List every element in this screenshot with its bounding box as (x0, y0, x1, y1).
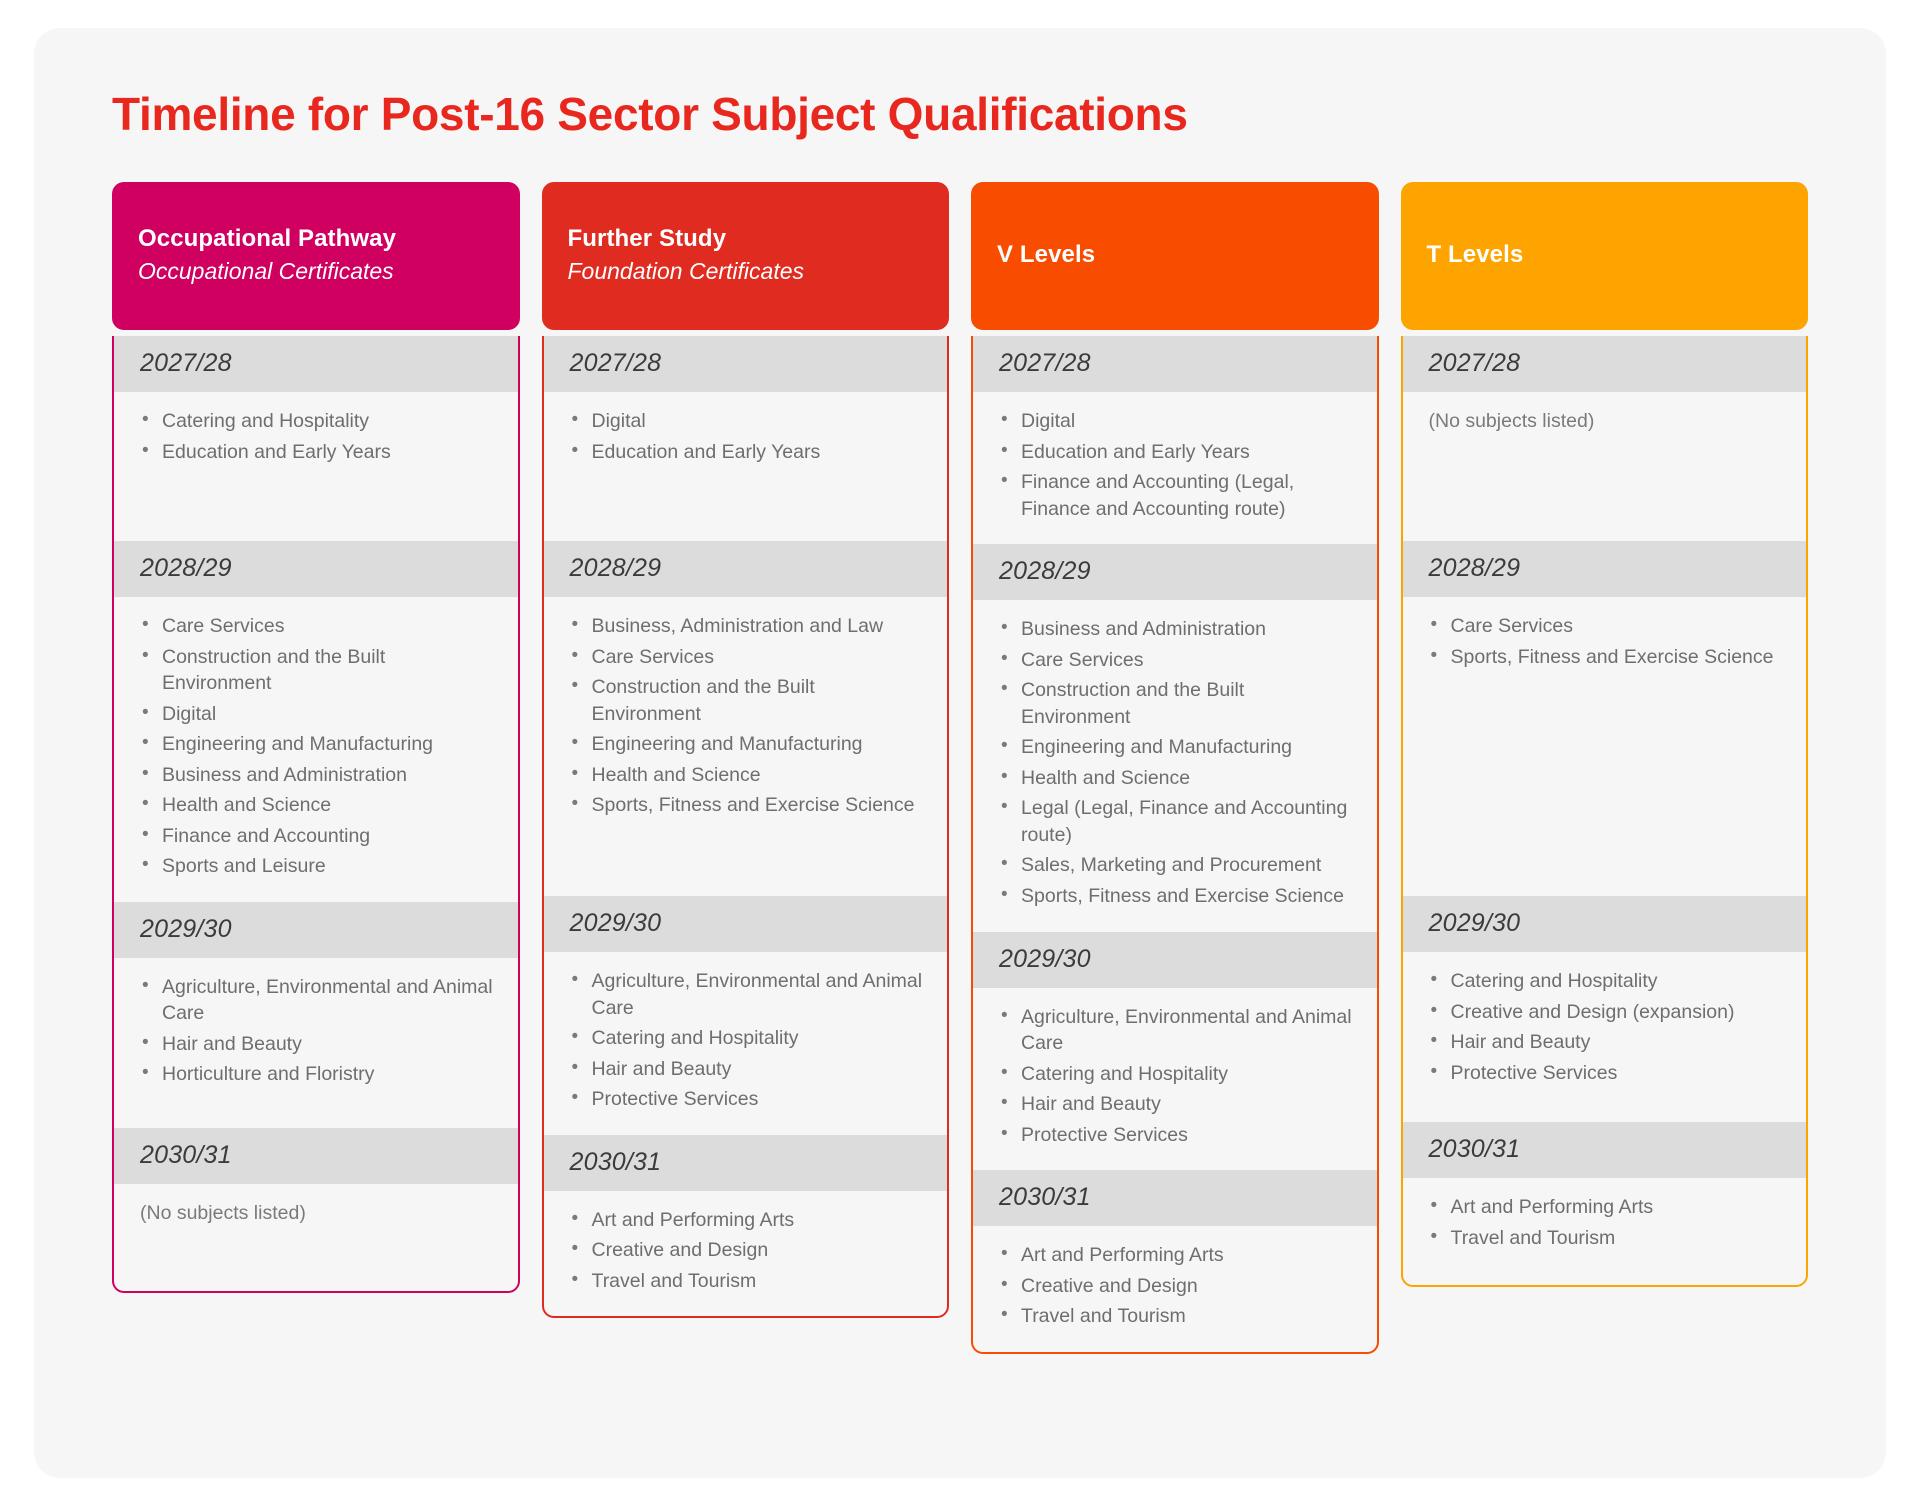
subject-area: Agriculture, Environmental and Animal Ca… (544, 952, 948, 1135)
year-block: 2028/29Business and AdministrationCare S… (973, 544, 1377, 931)
timeline-column-v-levels: V Levels2027/28DigitalEducation and Earl… (971, 182, 1379, 1353)
subject-item: Art and Performing Arts (1429, 1194, 1785, 1221)
column-header-further-study[interactable]: Further StudyFoundation Certificates (542, 182, 950, 330)
subject-area: (No subjects listed) (114, 1184, 518, 1245)
subject-item: Digital (140, 701, 496, 728)
subject-item: Legal (Legal, Finance and Accounting rou… (999, 795, 1355, 848)
year-label: 2030/31 (973, 1170, 1377, 1226)
year-label: 2030/31 (114, 1128, 518, 1184)
subject-item: Sales, Marketing and Procurement (999, 852, 1355, 879)
subject-item: Health and Science (140, 792, 496, 819)
column-title: Further Study (568, 224, 924, 254)
year-block: 2027/28DigitalEducation and Early Years (544, 336, 948, 541)
subject-item: Agriculture, Environmental and Animal Ca… (570, 968, 926, 1021)
subject-list: Care ServicesConstruction and the Built … (140, 613, 496, 880)
column-body-occupational-pathway: 2027/28Catering and HospitalityEducation… (112, 336, 520, 1293)
subject-list: Agriculture, Environmental and Animal Ca… (999, 1004, 1355, 1149)
year-label: 2030/31 (1403, 1122, 1807, 1178)
subject-item: Construction and the Built Environment (140, 644, 496, 697)
subject-area: Art and Performing ArtsCreative and Desi… (973, 1226, 1377, 1352)
subject-item: Travel and Tourism (999, 1303, 1355, 1330)
subject-item: Creative and Design (999, 1273, 1355, 1300)
timeline-column-further-study: Further StudyFoundation Certificates2027… (542, 182, 950, 1318)
year-block: 2029/30Agriculture, Environmental and An… (114, 902, 518, 1128)
subject-area: DigitalEducation and Early Years (544, 392, 948, 487)
year-block: 2028/29Care ServicesSports, Fitness and … (1403, 541, 1807, 896)
subject-area: Catering and HospitalityCreative and Des… (1403, 952, 1807, 1108)
subject-item: Protective Services (570, 1086, 926, 1113)
subject-item: Engineering and Manufacturing (140, 731, 496, 758)
subject-list: Agriculture, Environmental and Animal Ca… (570, 968, 926, 1113)
subject-item: Agriculture, Environmental and Animal Ca… (140, 974, 496, 1027)
subject-list: DigitalEducation and Early Years (570, 408, 926, 465)
subject-item: Engineering and Manufacturing (570, 731, 926, 758)
subject-area: (No subjects listed) (1403, 392, 1807, 453)
year-label: 2028/29 (544, 541, 948, 597)
subject-area: Agriculture, Environmental and Animal Ca… (114, 958, 518, 1110)
column-subtitle: Occupational Certificates (138, 257, 494, 287)
year-block: 2030/31Art and Performing ArtsCreative a… (973, 1170, 1377, 1352)
subject-item: Protective Services (999, 1122, 1355, 1149)
year-label: 2029/30 (973, 932, 1377, 988)
empty-subjects-note: (No subjects listed) (1429, 408, 1785, 435)
subject-item: Horticulture and Floristry (140, 1061, 496, 1088)
year-block: 2030/31(No subjects listed) (114, 1128, 518, 1291)
subject-item: Care Services (1429, 613, 1785, 640)
year-block: 2029/30Catering and HospitalityCreative … (1403, 896, 1807, 1122)
subject-item: Agriculture, Environmental and Animal Ca… (999, 1004, 1355, 1057)
subject-item: Finance and Accounting (140, 823, 496, 850)
year-label: 2030/31 (544, 1135, 948, 1191)
column-header-t-levels[interactable]: T Levels (1401, 182, 1809, 330)
subject-item: Sports and Leisure (140, 853, 496, 880)
subject-item: Catering and Hospitality (140, 408, 496, 435)
year-block: 2030/31Art and Performing ArtsCreative a… (544, 1135, 948, 1317)
subject-list: Art and Performing ArtsCreative and Desi… (999, 1242, 1355, 1330)
subject-item: Hair and Beauty (570, 1056, 926, 1083)
column-subtitle: Foundation Certificates (568, 257, 924, 287)
subject-item: Engineering and Manufacturing (999, 734, 1355, 761)
subject-area: Art and Performing ArtsTravel and Touris… (1403, 1178, 1807, 1273)
year-block: 2027/28(No subjects listed) (1403, 336, 1807, 541)
subject-list: Catering and HospitalityCreative and Des… (1429, 968, 1785, 1086)
subject-item: Finance and Accounting (Legal, Finance a… (999, 469, 1355, 522)
subject-item: Care Services (999, 647, 1355, 674)
subject-item: Health and Science (999, 765, 1355, 792)
year-label: 2028/29 (1403, 541, 1807, 597)
year-label: 2027/28 (973, 336, 1377, 392)
subject-item: Construction and the Built Environment (570, 674, 926, 727)
subject-item: Construction and the Built Environment (999, 677, 1355, 730)
subject-area: Business, Administration and LawCare Ser… (544, 597, 948, 841)
subject-item: Travel and Tourism (1429, 1225, 1785, 1252)
column-body-t-levels: 2027/28(No subjects listed)2028/29Care S… (1401, 336, 1809, 1287)
year-block: 2027/28DigitalEducation and Early YearsF… (973, 336, 1377, 544)
subject-item: Education and Early Years (570, 439, 926, 466)
year-block: 2027/28Catering and HospitalityEducation… (114, 336, 518, 541)
subject-list: DigitalEducation and Early YearsFinance … (999, 408, 1355, 522)
subject-area: Care ServicesSports, Fitness and Exercis… (1403, 597, 1807, 692)
subject-item: Art and Performing Arts (999, 1242, 1355, 1269)
column-header-occupational-pathway[interactable]: Occupational PathwayOccupational Certifi… (112, 182, 520, 330)
subject-item: Care Services (570, 644, 926, 671)
subject-area: Art and Performing ArtsCreative and Desi… (544, 1191, 948, 1317)
subject-area: Catering and HospitalityEducation and Ea… (114, 392, 518, 487)
subject-area: Business and AdministrationCare Services… (973, 600, 1377, 931)
year-block: 2028/29Business, Administration and LawC… (544, 541, 948, 896)
column-title: V Levels (997, 240, 1353, 270)
subject-item: Travel and Tourism (570, 1268, 926, 1295)
subject-item: Business, Administration and Law (570, 613, 926, 640)
timeline-columns: Occupational PathwayOccupational Certifi… (112, 182, 1808, 1353)
subject-list: Business and AdministrationCare Services… (999, 616, 1355, 909)
timeline-column-occupational-pathway: Occupational PathwayOccupational Certifi… (112, 182, 520, 1293)
infographic-board: Timeline for Post-16 Sector Subject Qual… (34, 28, 1886, 1478)
subject-item: Art and Performing Arts (570, 1207, 926, 1234)
subject-list: Business, Administration and LawCare Ser… (570, 613, 926, 819)
year-label: 2027/28 (1403, 336, 1807, 392)
subject-item: Creative and Design (expansion) (1429, 999, 1785, 1026)
subject-item: Care Services (140, 613, 496, 640)
year-block: 2030/31Art and Performing ArtsTravel and… (1403, 1122, 1807, 1285)
year-label: 2027/28 (544, 336, 948, 392)
subject-item: Digital (570, 408, 926, 435)
subject-list: Art and Performing ArtsCreative and Desi… (570, 1207, 926, 1295)
subject-item: Catering and Hospitality (999, 1061, 1355, 1088)
year-block: 2028/29Care ServicesConstruction and the… (114, 541, 518, 902)
year-block: 2029/30Agriculture, Environmental and An… (544, 896, 948, 1135)
subject-area: Care ServicesConstruction and the Built … (114, 597, 518, 902)
subject-item: Hair and Beauty (999, 1091, 1355, 1118)
year-label: 2029/30 (114, 902, 518, 958)
subject-list: Art and Performing ArtsTravel and Touris… (1429, 1194, 1785, 1251)
subject-list: Agriculture, Environmental and Animal Ca… (140, 974, 496, 1088)
year-label: 2029/30 (1403, 896, 1807, 952)
subject-list: Catering and HospitalityEducation and Ea… (140, 408, 496, 465)
subject-item: Sports, Fitness and Exercise Science (1429, 644, 1785, 671)
subject-area: Agriculture, Environmental and Animal Ca… (973, 988, 1377, 1171)
empty-subjects-note: (No subjects listed) (140, 1200, 496, 1227)
subject-list: Care ServicesSports, Fitness and Exercis… (1429, 613, 1785, 670)
subject-item: Sports, Fitness and Exercise Science (999, 883, 1355, 910)
subject-item: Education and Early Years (999, 439, 1355, 466)
subject-item: Digital (999, 408, 1355, 435)
subject-item: Hair and Beauty (1429, 1029, 1785, 1056)
subject-item: Hair and Beauty (140, 1031, 496, 1058)
column-header-v-levels[interactable]: V Levels (971, 182, 1379, 330)
year-label: 2028/29 (973, 544, 1377, 600)
subject-item: Education and Early Years (140, 439, 496, 466)
year-label: 2028/29 (114, 541, 518, 597)
column-title: T Levels (1427, 240, 1783, 270)
page-root: Timeline for Post-16 Sector Subject Qual… (0, 0, 1920, 1512)
column-body-further-study: 2027/28DigitalEducation and Early Years2… (542, 336, 950, 1318)
year-label: 2029/30 (544, 896, 948, 952)
column-body-v-levels: 2027/28DigitalEducation and Early YearsF… (971, 336, 1379, 1353)
column-title: Occupational Pathway (138, 224, 494, 254)
subject-item: Protective Services (1429, 1060, 1785, 1087)
year-label: 2027/28 (114, 336, 518, 392)
subject-item: Sports, Fitness and Exercise Science (570, 792, 926, 819)
page-title: Timeline for Post-16 Sector Subject Qual… (112, 90, 1808, 138)
subject-item: Business and Administration (140, 762, 496, 789)
subject-area: DigitalEducation and Early YearsFinance … (973, 392, 1377, 544)
subject-item: Creative and Design (570, 1237, 926, 1264)
timeline-column-t-levels: T Levels2027/28(No subjects listed)2028/… (1401, 182, 1809, 1287)
subject-item: Catering and Hospitality (570, 1025, 926, 1052)
year-block: 2029/30Agriculture, Environmental and An… (973, 932, 1377, 1171)
subject-item: Catering and Hospitality (1429, 968, 1785, 995)
subject-item: Business and Administration (999, 616, 1355, 643)
subject-item: Health and Science (570, 762, 926, 789)
